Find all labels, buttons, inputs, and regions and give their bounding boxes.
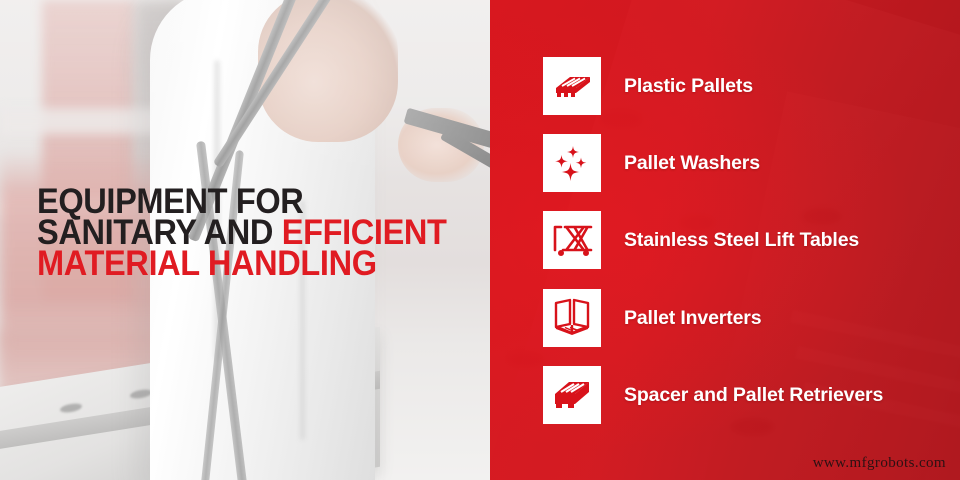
list-item-label: Plastic Pallets bbox=[624, 75, 753, 98]
list-item[interactable]: Pallet Inverters bbox=[543, 289, 761, 347]
list-item[interactable]: Spacer and Pallet Retrievers bbox=[543, 366, 883, 424]
page-title: EQUIPMENT FOR SANITARY AND EFFICIENT MAT… bbox=[37, 186, 446, 279]
scissor-lift-table-icon bbox=[543, 211, 601, 269]
plastic-pallet-icon bbox=[543, 57, 601, 115]
watermark: www.mfgrobots.com bbox=[813, 455, 946, 472]
features-panel: Plastic Pallets Pallet Washers bbox=[490, 0, 960, 480]
sparkle-clean-icon bbox=[543, 134, 601, 192]
list-item-label: Stainless Steel Lift Tables bbox=[624, 229, 859, 252]
features-list: Plastic Pallets Pallet Washers bbox=[490, 0, 960, 480]
list-item-label: Pallet Inverters bbox=[624, 307, 761, 330]
promo-banner: EQUIPMENT FOR SANITARY AND EFFICIENT MAT… bbox=[0, 0, 960, 480]
list-item[interactable]: Pallet Washers bbox=[543, 134, 760, 192]
pallet-inverter-cage-icon bbox=[543, 289, 601, 347]
list-item-label: Spacer and Pallet Retrievers bbox=[624, 384, 883, 407]
list-item[interactable]: Plastic Pallets bbox=[543, 57, 753, 115]
list-item[interactable]: Stainless Steel Lift Tables bbox=[543, 211, 859, 269]
headline-line-3: MATERIAL HANDLING bbox=[37, 248, 446, 279]
spacer-retriever-icon bbox=[543, 366, 601, 424]
list-item-label: Pallet Washers bbox=[624, 152, 760, 175]
